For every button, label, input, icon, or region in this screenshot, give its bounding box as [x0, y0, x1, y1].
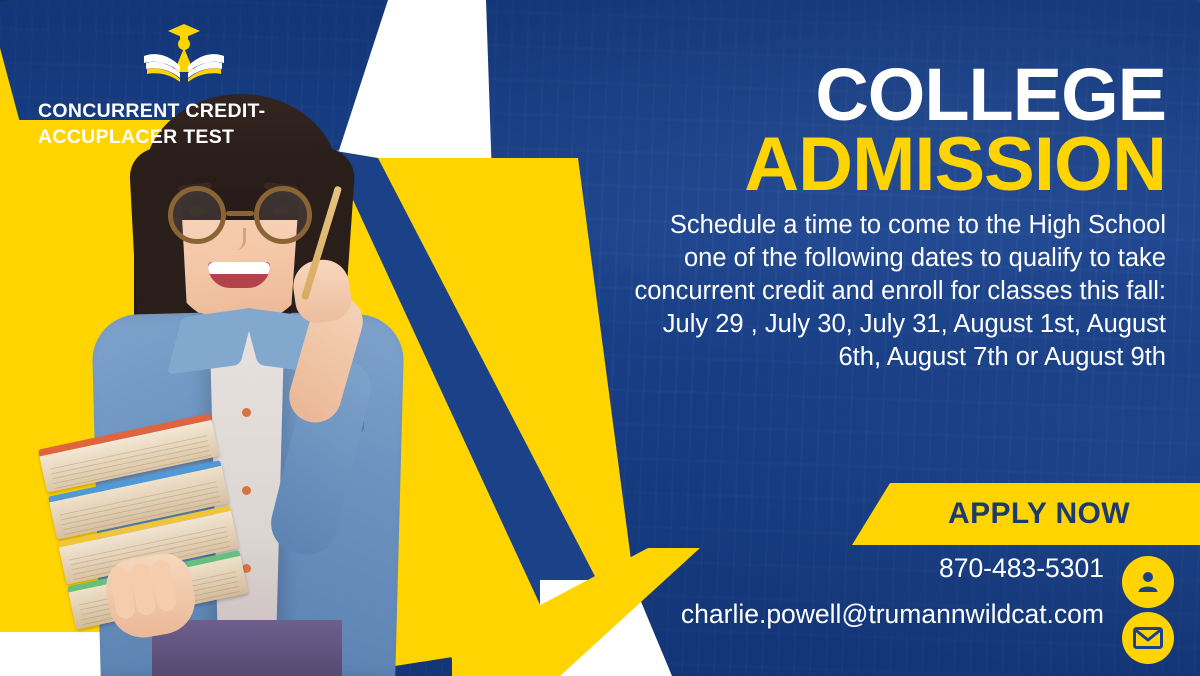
eyeglass-bridge: [226, 211, 254, 216]
envelope-glyph: [1133, 626, 1163, 650]
apply-now-button[interactable]: APPLY NOW: [852, 483, 1200, 545]
headline-block: COLLEGE ADMISSION Schedule a time to com…: [626, 60, 1166, 374]
envelope-icon[interactable]: [1122, 612, 1174, 664]
jacket-button-1: [242, 408, 251, 417]
contact-block: 870-483-5301 charlie.powell@trumannwildc…: [524, 553, 1104, 630]
contact-icon-stack: [1122, 556, 1178, 664]
headline-line-1: COLLEGE: [626, 60, 1166, 130]
eyeglass-lens-right: [254, 186, 312, 244]
brand-title: CONCURRENT CREDIT-ACCUPLACER TEST: [38, 98, 328, 151]
graduation-cap-open-book-logo: [138, 22, 230, 84]
email-address[interactable]: charlie.powell@trumannwildcat.com: [524, 599, 1104, 629]
body-paragraph: Schedule a time to come to the High Scho…: [626, 209, 1166, 308]
teeth: [208, 262, 270, 274]
eyeglass-lens-left: [168, 186, 226, 244]
dates-list: July 29 , July 30, July 31, August 1st, …: [626, 308, 1166, 374]
apply-now-label: APPLY NOW: [922, 497, 1130, 531]
person-icon[interactable]: [1122, 556, 1174, 608]
brand-block: CONCURRENT CREDIT-ACCUPLACER TEST: [38, 22, 328, 151]
headline-line-2: ADMISSION: [626, 128, 1166, 202]
poster-canvas: CONCURRENT CREDIT-ACCUPLACER TEST COLLEG…: [0, 0, 1200, 676]
person-glyph: [1133, 567, 1163, 597]
phone-number[interactable]: 870-483-5301: [524, 553, 1104, 583]
jacket-button-2: [242, 486, 251, 495]
